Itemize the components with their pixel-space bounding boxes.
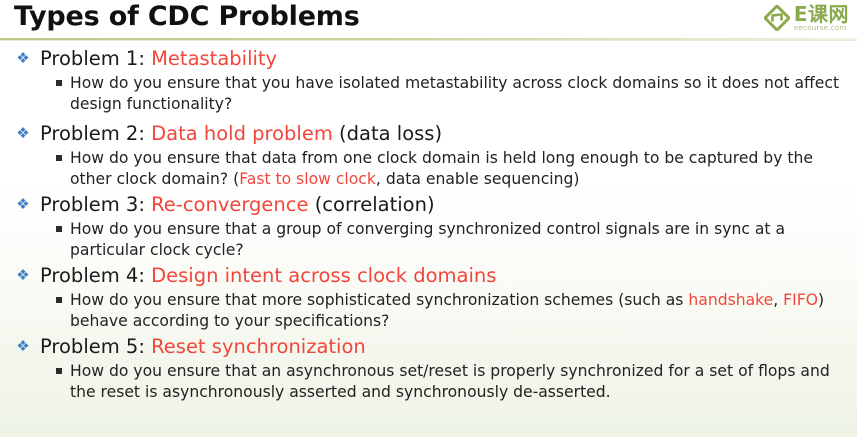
brand-subtitle: eecourse.com bbox=[794, 25, 849, 32]
sub-text-2-1-highlight: Fast to slow clock bbox=[239, 170, 376, 188]
bullet-label-1: Problem 1: bbox=[40, 47, 145, 70]
bullet-level2-1-1: How do you ensure that you have isolated… bbox=[0, 73, 857, 114]
diamond-bullet-icon: ❖ bbox=[14, 46, 32, 71]
bullet-trailing-2: (data loss) bbox=[333, 122, 442, 145]
diamond-bullet-icon: ❖ bbox=[14, 192, 32, 217]
square-bullet-icon bbox=[56, 226, 62, 232]
sub-text-2-1-post: , data enable sequencing) bbox=[376, 170, 580, 188]
brand-name: E课网 bbox=[794, 4, 849, 24]
bullet-level2-3-1: How do you ensure that a group of conver… bbox=[0, 219, 857, 260]
bullet-highlight-4: Design intent across clock domains bbox=[151, 264, 496, 287]
bullet-level1-3: ❖Problem 3: Re-convergence (correlation) bbox=[0, 192, 857, 217]
bullet-label-5: Problem 5: bbox=[40, 335, 145, 358]
diamond-logo-icon bbox=[764, 5, 790, 31]
diamond-bullet-icon: ❖ bbox=[14, 121, 32, 146]
bullet-highlight-2: Data hold problem bbox=[151, 122, 333, 145]
slide-root: Types of CDC Problems E课网 eecourse.com ❖… bbox=[0, 0, 857, 437]
bullet-trailing-3: (correlation) bbox=[309, 193, 435, 216]
slide-body: ❖Problem 1: Metastability How do you ens… bbox=[0, 46, 857, 402]
bullet-label-2: Problem 2: bbox=[40, 122, 145, 145]
sub-text-5-1-pre: How do you ensure that an asynchronous s… bbox=[70, 362, 830, 401]
bullet-level2-5-1: How do you ensure that an asynchronous s… bbox=[0, 361, 857, 402]
bullet-level2-4-1: How do you ensure that more sophisticate… bbox=[0, 290, 857, 331]
bullet-level1-5: ❖Problem 5: Reset synchronization bbox=[0, 334, 857, 359]
bullet-group-2: ❖Problem 2: Data hold problem (data loss… bbox=[0, 121, 857, 189]
bullet-group-4: ❖Problem 4: Design intent across clock d… bbox=[0, 263, 857, 331]
bullet-group-3: ❖Problem 3: Re-convergence (correlation)… bbox=[0, 192, 857, 260]
sub-text-4-1-highlight-b: FIFO bbox=[783, 291, 818, 309]
bullet-highlight-3: Re-convergence bbox=[151, 193, 308, 216]
bullet-level1-2: ❖Problem 2: Data hold problem (data loss… bbox=[0, 121, 857, 146]
page-title: Types of CDC Problems bbox=[14, 1, 360, 32]
sub-text-4-1-highlight-a: handshake bbox=[688, 291, 773, 309]
bullet-label-3: Problem 3: bbox=[40, 193, 145, 216]
brand-logo: E课网 eecourse.com bbox=[764, 2, 849, 34]
bullet-group-5: ❖Problem 5: Reset synchronization How do… bbox=[0, 334, 857, 402]
square-bullet-icon bbox=[56, 297, 62, 303]
title-divider-shadow bbox=[0, 40, 857, 41]
sub-text-1-1-pre: How do you ensure that you have isolated… bbox=[70, 74, 839, 113]
bullet-level1-1: ❖Problem 1: Metastability bbox=[0, 46, 857, 71]
slide-header: Types of CDC Problems E课网 eecourse.com bbox=[0, 0, 857, 40]
diamond-bullet-icon: ❖ bbox=[14, 263, 32, 288]
brand-text-wrap: E课网 eecourse.com bbox=[794, 4, 849, 32]
sub-text-4-1-sep: , bbox=[773, 291, 783, 309]
bullet-label-4: Problem 4: bbox=[40, 264, 145, 287]
sub-text-3-1-pre: How do you ensure that a group of conver… bbox=[70, 220, 785, 259]
square-bullet-icon bbox=[56, 368, 62, 374]
square-bullet-icon bbox=[56, 155, 62, 161]
bullet-group-1: ❖Problem 1: Metastability How do you ens… bbox=[0, 46, 857, 114]
bullet-level1-4: ❖Problem 4: Design intent across clock d… bbox=[0, 263, 857, 288]
square-bullet-icon bbox=[56, 80, 62, 86]
bullet-highlight-5: Reset synchronization bbox=[151, 335, 366, 358]
diamond-bullet-icon: ❖ bbox=[14, 334, 32, 359]
bullet-highlight-1: Metastability bbox=[151, 47, 277, 70]
sub-text-4-1-pre: How do you ensure that more sophisticate… bbox=[70, 291, 688, 309]
bullet-level2-2-1: How do you ensure that data from one clo… bbox=[0, 148, 857, 189]
